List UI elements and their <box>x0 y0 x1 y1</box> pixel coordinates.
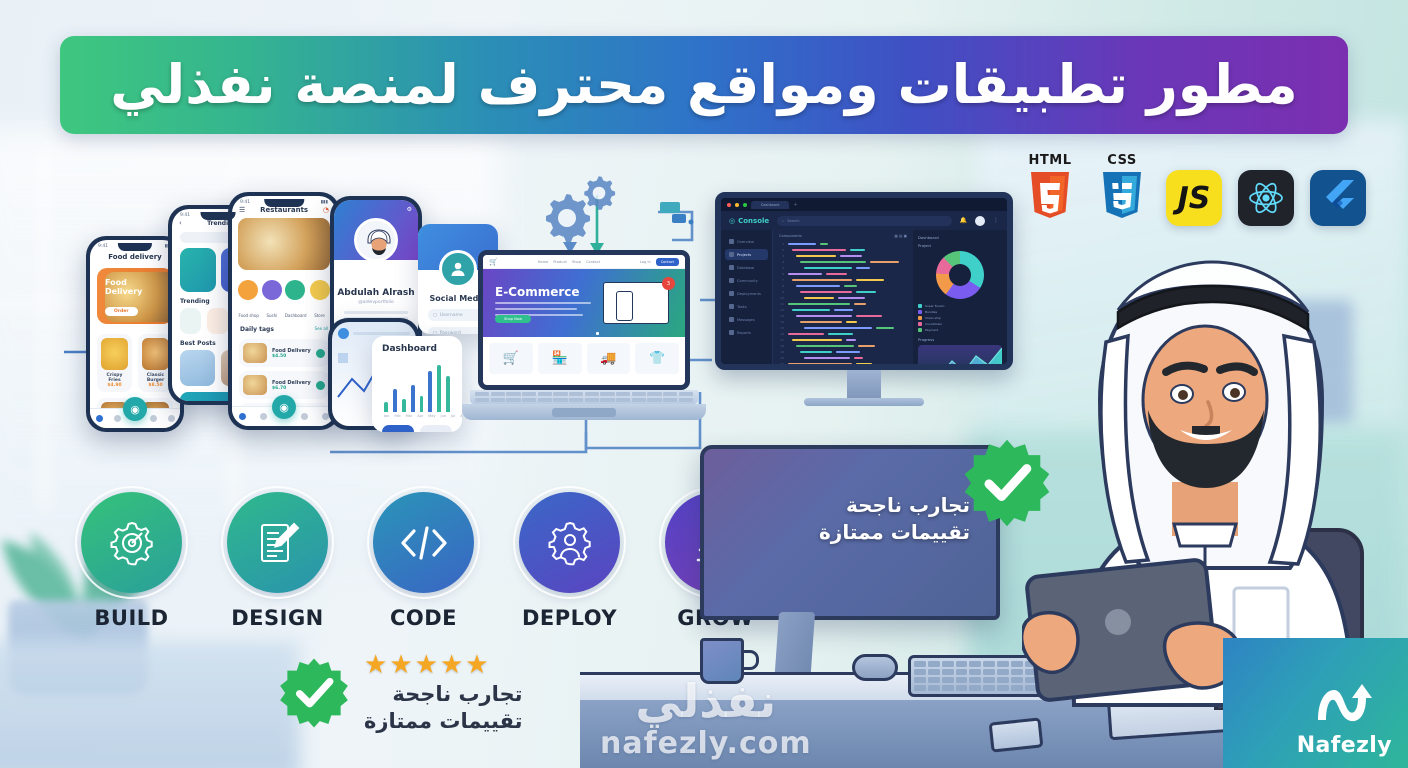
javascript-icon: JS <box>1166 170 1222 226</box>
legend-item: Payment <box>918 328 1002 332</box>
hero-line-2: Delivery <box>105 287 142 296</box>
food-hero-banner: FoodDelivery Order <box>97 268 173 324</box>
line-number: 2 <box>778 248 784 252</box>
line-number: 17 <box>778 338 784 342</box>
donut-chart <box>936 251 984 299</box>
device-mockup-desktop <box>603 282 669 324</box>
user-avatar-icon <box>439 250 477 288</box>
area-chart-title: Progress <box>918 337 1002 342</box>
legend-item: Countdown <box>918 322 1002 326</box>
ide-brand: ◎ Console <box>729 217 769 225</box>
code-token <box>796 345 854 348</box>
bar-chart <box>372 356 462 412</box>
list-item[interactable]: Food Delivery$4.50 <box>239 339 329 367</box>
laptop-screen: 🛒 Home Product Shop Contact Log in Conta… <box>478 250 690 390</box>
sidebar-item-database[interactable]: Database <box>725 262 768 273</box>
tech-stack-row: HTML CSS JS <box>1022 170 1366 226</box>
coffee-mug-handle <box>742 650 759 670</box>
line-number: 18 <box>778 344 784 348</box>
line-number: 1 <box>778 242 784 246</box>
chart-tick: Aug <box>460 414 462 418</box>
category-icon <box>285 280 305 300</box>
category-tiles: 🛒 🏪 🚚 👕 <box>483 337 685 380</box>
cart-badge: 3 <box>662 277 675 290</box>
bell-icon[interactable]: 🔔 <box>960 217 967 224</box>
sidebar-item-deployments[interactable]: Deployments <box>725 288 768 299</box>
chart-title: Dashboard <box>372 336 462 356</box>
code-token <box>834 309 853 312</box>
code-token <box>792 339 842 342</box>
sidebar-item-messages[interactable]: Messages <box>725 314 768 325</box>
laptop-trackpad <box>552 408 616 417</box>
css3-caption: CSS <box>1107 153 1136 168</box>
chart-actions <box>372 418 462 432</box>
star-icon: ★ <box>389 652 412 678</box>
chart-tick: Jul <box>451 414 455 418</box>
code-token <box>836 351 860 354</box>
category-item[interactable]: Food shop <box>238 280 258 321</box>
avatar <box>354 218 398 262</box>
category-item[interactable]: Sushi <box>262 280 282 321</box>
code-token <box>846 321 857 324</box>
status-time: 9:41 <box>180 213 190 218</box>
gear-target-icon <box>106 517 158 569</box>
profile-header: ⚙ <box>334 200 418 260</box>
brand-name: Nafezly <box>1297 733 1392 758</box>
sidebar-item-overview[interactable]: Overview <box>725 236 768 247</box>
code-token <box>838 297 865 300</box>
category-tshirt-icon[interactable]: 👕 <box>635 343 679 374</box>
nav-item[interactable]: Shop <box>572 260 581 264</box>
line-number: 8 <box>778 284 784 288</box>
ide-sidebar: Overview Projects Database Community Dep… <box>721 230 773 370</box>
chart-tick: Jan <box>384 414 389 418</box>
line-number: 12 <box>778 308 784 312</box>
code-token <box>844 285 857 288</box>
code-token <box>788 243 816 246</box>
code-token <box>796 285 840 288</box>
code-token <box>826 273 847 276</box>
ide-search-input[interactable]: ⌕ Search <box>777 216 951 226</box>
add-icon[interactable] <box>316 381 325 390</box>
ide-screen: Dashboard + ◎ Console ⌕ Search 🔔 ⋮ Overv… <box>715 192 1013 370</box>
gear-user-icon <box>544 517 596 569</box>
contact-button[interactable]: Contact <box>656 258 679 266</box>
step-design-label: DESIGN <box>224 606 331 630</box>
step-code[interactable]: CODE <box>370 492 477 630</box>
code-token <box>850 249 865 252</box>
code-token <box>792 369 832 370</box>
food-price: $8.50 <box>142 383 169 388</box>
document-pencil-icon <box>253 518 303 568</box>
nav-cart-fab[interactable]: ◉ <box>123 397 147 421</box>
restaurant-hero-image <box>238 218 330 270</box>
post-thumb[interactable] <box>180 350 215 386</box>
status-icons: ▮▮▮ <box>321 200 328 205</box>
code-token <box>788 303 850 306</box>
testimonial-line-1: تجارب ناجحة <box>846 493 970 517</box>
brand-corner: Nafezly <box>1223 638 1408 768</box>
code-file-label: Components <box>779 234 802 238</box>
chart-tick: Jun <box>441 414 446 418</box>
nav-cart-fab[interactable]: ◉ <box>272 395 296 419</box>
back-icon[interactable]: ‹ <box>179 219 182 227</box>
site-navbar: 🛒 Home Product Shop Contact Log in Conta… <box>483 255 685 269</box>
phone-mockup-restaurant-app: 9:41▮▮▮ ☰ Restaurants ◔ Food shop Sushi … <box>228 192 340 430</box>
laptop-base <box>462 404 706 420</box>
headline-text: مطور تطبيقات ومواقع محترف لمنصة نفذلي <box>110 58 1297 112</box>
category-row: Food shop Sushi Dashboard Store <box>232 274 336 324</box>
line-number: 16 <box>778 332 784 336</box>
code-token <box>870 261 899 264</box>
watermark: نفذلي nafezly.com <box>600 678 812 759</box>
code-token <box>800 351 832 354</box>
profile-name: Abdulah Alrash <box>334 288 418 298</box>
code-token <box>820 243 828 246</box>
code-token <box>800 291 852 294</box>
computer-mouse <box>852 654 898 681</box>
status-time: 9:41 <box>240 200 250 205</box>
step-deploy[interactable]: DEPLOY <box>516 492 623 630</box>
area-chart <box>918 345 1002 370</box>
item-thumb <box>243 375 267 395</box>
chart-bar <box>384 402 388 412</box>
category-icon <box>262 280 282 300</box>
verified-badge <box>278 657 350 729</box>
category-icon <box>310 280 330 300</box>
nav-search-icon[interactable] <box>114 415 121 422</box>
food-name: Crispy Fries <box>101 373 128 383</box>
react-icon <box>1238 170 1294 226</box>
code-token <box>792 279 852 282</box>
testimonial-overlay-text: تجارب ناجحة تقييمات ممتازة <box>810 492 970 546</box>
avatar-small <box>338 328 349 339</box>
category-label: Food shop <box>238 313 258 318</box>
code-token <box>788 273 822 276</box>
chip-item[interactable] <box>180 308 201 334</box>
headline-banner: مطور تطبيقات ومواقع محترف لمنصة نفذلي <box>60 36 1348 134</box>
step-design[interactable]: DESIGN <box>224 492 331 630</box>
line-number: 13 <box>778 314 784 318</box>
notification-icon[interactable]: ◔ <box>323 206 329 214</box>
verified-check-badge <box>278 657 350 729</box>
code-token <box>804 357 850 360</box>
nav-item[interactable]: Contact <box>586 260 600 264</box>
hero-title: E-Commerce <box>495 285 580 299</box>
hero-cta-button[interactable]: Shop Now <box>495 315 531 323</box>
monitor-stand-neck <box>847 370 881 398</box>
code-line: 21 <box>773 361 913 367</box>
code-token <box>792 309 830 312</box>
code-token <box>804 297 834 300</box>
nav-favorites-icon[interactable] <box>150 415 157 422</box>
star-rating: ★★★★★ <box>364 652 523 678</box>
lock-icon: ◻ <box>433 331 437 335</box>
process-steps: BUILD DESIGN CODE <box>78 492 769 630</box>
step-build[interactable]: BUILD <box>78 492 185 630</box>
chart-bar <box>393 389 397 412</box>
star-icon: ★ <box>415 652 438 678</box>
flutter-icon <box>1310 170 1366 226</box>
code-token <box>788 333 824 336</box>
donut-title: Project <box>918 243 1002 248</box>
code-token <box>858 345 875 348</box>
banner-canvas: مطور تطبيقات ومواقع محترف لمنصة نفذلي HT… <box>0 0 1408 768</box>
gear-icon-small <box>578 172 620 214</box>
laptop-keyboard <box>470 390 698 404</box>
laptop-mockup: 🛒 Home Product Shop Contact Log in Conta… <box>478 250 690 420</box>
sidebar-item-tasks[interactable]: Tasks <box>725 301 768 312</box>
code-token <box>840 255 862 258</box>
category-store-icon[interactable]: 🏪 <box>538 343 582 374</box>
html5-icon: HTML <box>1022 170 1078 226</box>
nafezly-arrow-logo <box>1312 678 1376 728</box>
app-title: Restaurants <box>245 206 323 214</box>
code-token <box>856 267 870 270</box>
watermark-arabic: نفذلي <box>600 678 812 724</box>
nav-home-icon[interactable] <box>239 413 246 420</box>
sidebar-item-reports[interactable]: Reports <box>725 327 768 338</box>
chart-tick: May <box>428 414 435 418</box>
testimonial-line-2: تقييمات ممتازة <box>819 520 970 544</box>
code-token <box>846 339 856 342</box>
phone-notch <box>264 199 304 207</box>
line-number: 9 <box>778 290 784 294</box>
css3-icon: CSS <box>1094 170 1150 226</box>
javascript-label: JS <box>1178 181 1211 216</box>
user-icon: ◻ <box>433 313 437 318</box>
line-number: 10 <box>778 296 784 300</box>
sidebar-item-community[interactable]: Community <box>725 275 768 286</box>
code-token <box>792 249 846 252</box>
category-icon <box>238 280 258 300</box>
step-deploy-label: DEPLOY <box>516 606 623 630</box>
username-placeholder: Username <box>440 313 463 318</box>
code-token <box>796 255 836 258</box>
chart-bar <box>428 371 432 412</box>
code-token <box>800 261 866 264</box>
category-label: Sushi <box>266 313 277 318</box>
code-token <box>800 321 842 324</box>
node-network-icon <box>658 198 694 228</box>
hero-section: E-Commerce Shop Now 3 <box>483 269 685 337</box>
settings-icon[interactable]: ⚙ <box>407 206 412 213</box>
line-number: 14 <box>778 320 784 324</box>
overview-button[interactable] <box>382 425 414 432</box>
code-lines: 123456789101112131415161718192021222324 <box>773 241 913 370</box>
html5-caption: HTML <box>1029 153 1072 168</box>
code-token <box>856 315 882 318</box>
chart-bar <box>411 385 415 412</box>
watermark-domain: nafezly.com <box>600 729 812 759</box>
legend-item: Chain ship <box>918 316 1002 320</box>
code-token <box>856 279 884 282</box>
code-token <box>796 315 852 318</box>
star-icon: ★ <box>465 652 488 678</box>
chart-bar <box>420 396 424 412</box>
legend-item: Super Fusion <box>918 304 1002 308</box>
smartphone-on-desk <box>989 717 1044 752</box>
app-title: Food delivery <box>90 250 180 264</box>
line-number: 22 <box>778 368 784 370</box>
code-token <box>876 327 894 330</box>
category-delivery-icon[interactable]: 🚚 <box>587 343 631 374</box>
code-line: 22 <box>773 367 913 370</box>
shopping-cart-icon: 🛒 <box>489 258 498 266</box>
food-name: Classic Burger <box>142 373 169 383</box>
chart-bar <box>437 365 441 412</box>
category-item[interactable]: Dashboard <box>285 280 307 321</box>
monitor-stand-base <box>804 398 924 406</box>
line-number: 3 <box>778 254 784 258</box>
testimonial-text: تجارب ناجحة تقييمات ممتازة <box>364 681 523 735</box>
ide-topbar: ◎ Console ⌕ Search 🔔 ⋮ <box>721 211 1007 230</box>
more-menu-icon[interactable]: ⋮ <box>993 217 999 224</box>
hero-order-button[interactable]: Order <box>105 307 138 316</box>
line-number: 6 <box>778 272 784 276</box>
code-token <box>854 357 863 360</box>
nav-item[interactable]: Product <box>553 260 567 264</box>
item-price: $4.50 <box>272 354 311 359</box>
nav-orders-icon[interactable] <box>260 413 267 420</box>
legend-item: Bundles <box>918 310 1002 314</box>
star-icon: ★ <box>440 652 463 678</box>
panel-title: Dashboard <box>918 235 1002 240</box>
step-code-label: CODE <box>370 606 477 630</box>
code-token <box>856 291 876 294</box>
line-number: 19 <box>778 350 784 354</box>
nav-item[interactable]: Home <box>538 260 549 264</box>
feature-card[interactable] <box>180 248 216 292</box>
line-number: 5 <box>778 266 784 270</box>
background-left-desk <box>0 640 300 768</box>
code-brackets-icon <box>398 523 450 563</box>
star-icon: ★ <box>364 652 387 678</box>
window-mullion <box>40 150 48 510</box>
new-tab-icon[interactable]: + <box>793 202 797 208</box>
export-button[interactable] <box>420 425 452 432</box>
nav-profile-icon[interactable] <box>168 415 175 422</box>
card-dashboard-chart: Dashboard JanFebMarAprMayJunJulAug <box>372 336 462 432</box>
user-avatar[interactable] <box>975 216 985 226</box>
desktop-monitor-ide: Dashboard + ◎ Console ⌕ Search 🔔 ⋮ Overv… <box>715 192 1013 406</box>
line-number: 4 <box>778 260 784 264</box>
hero-line-1: Food <box>105 278 127 287</box>
chart-tick: Apr <box>417 414 423 418</box>
see-all-link[interactable]: See all <box>315 326 328 333</box>
chart-bar <box>446 376 450 412</box>
donut-legend: Super Fusion Bundles Chain ship Countdow… <box>918 304 1002 332</box>
tab-dashboard[interactable]: Dashboard <box>751 201 789 209</box>
code-token <box>804 267 852 270</box>
code-token <box>804 327 872 330</box>
line-number: 21 <box>778 362 784 366</box>
food-card[interactable]: Crispy Fries$4.90 <box>97 334 132 392</box>
line-number: 15 <box>778 326 784 330</box>
code-token <box>788 363 852 366</box>
line-number: 11 <box>778 302 784 306</box>
line-number: 20 <box>778 356 784 360</box>
phone-notch <box>201 212 236 220</box>
nav-home-icon[interactable] <box>96 415 103 422</box>
chart-bar <box>402 399 406 412</box>
editor-toolbar[interactable]: ▦ ▤ ▣ <box>895 234 907 238</box>
brand-lockup: Nafezly <box>1297 678 1392 758</box>
placeholder-line <box>353 332 410 335</box>
step-deploy-circle[interactable] <box>519 492 620 593</box>
item-name: Food Delivery <box>272 348 311 354</box>
step-design-circle[interactable] <box>227 492 328 593</box>
line-number: 7 <box>778 278 784 282</box>
code-editor[interactable]: Components▦ ▤ ▣ 123456789101112131415161… <box>773 230 913 370</box>
code-token <box>856 363 872 366</box>
item-thumb <box>243 343 267 363</box>
code-token <box>854 303 866 306</box>
step-build-circle[interactable] <box>81 492 182 593</box>
nav-favorites-icon[interactable] <box>301 413 308 420</box>
item-name: Food Delivery <box>272 380 311 386</box>
section-title: Daily tags <box>240 326 274 333</box>
category-label: Store <box>314 313 325 318</box>
food-thumb <box>101 338 128 370</box>
chart-tick: Mar <box>406 414 413 418</box>
step-code-circle[interactable] <box>373 492 474 593</box>
item-price: $6.70 <box>272 386 311 391</box>
category-item[interactable]: Store <box>310 280 330 321</box>
code-token <box>828 333 853 336</box>
food-price: $4.90 <box>101 383 128 388</box>
chart-tick: Feb <box>394 414 400 418</box>
ide-analytics-panel: Dashboard Project Super Fusion Bundles C… <box>913 230 1007 370</box>
testimonial-line-1: تجارب ناجحة <box>392 682 522 706</box>
category-label: Dashboard <box>285 313 307 318</box>
status-time: 9:41 <box>98 244 108 249</box>
add-icon[interactable] <box>316 349 325 358</box>
chip-item[interactable] <box>207 308 228 334</box>
browser-tabs: Dashboard + <box>721 198 1007 211</box>
sidebar-item-projects[interactable]: Projects <box>725 249 768 260</box>
category-cart-icon[interactable]: 🛒 <box>489 343 533 374</box>
login-link[interactable]: Log in <box>640 260 651 264</box>
device-mockup-phone <box>616 291 633 321</box>
testimonial-line-2: تقييمات ممتازة <box>364 709 523 733</box>
phone-notch <box>118 243 152 251</box>
testimonial-badge: ★★★★★ تجارب ناجحة تقييمات ممتازة <box>278 652 523 735</box>
step-build-label: BUILD <box>78 606 185 630</box>
password-placeholder: Password <box>440 331 461 335</box>
food-thumb <box>142 338 169 370</box>
